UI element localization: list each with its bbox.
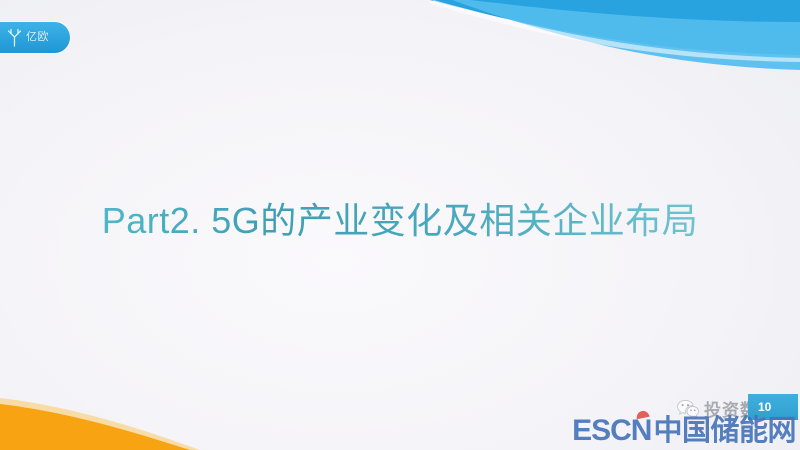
- brand-logo-word: 亿欧: [26, 32, 49, 43]
- page-title: Part2. 5G的产业变化及相关企业布局: [102, 200, 699, 242]
- escn-brand: ESCN 中国储能网: [572, 416, 796, 446]
- escn-brand-mark: ESCN: [572, 416, 651, 446]
- escn-brand-name: 中国储能网: [653, 417, 796, 446]
- page-title-container: Part2. 5G的产业变化及相关企业布局: [0, 176, 800, 267]
- page-number: 10: [758, 401, 771, 413]
- brand-logo: 亿欧: [0, 22, 70, 53]
- slide-canvas: 亿欧 Part2. 5G的产业变化及相关企业布局 投资数据库 10 ESCN 中…: [0, 0, 800, 450]
- yiou-antler-mark-icon: [6, 28, 23, 47]
